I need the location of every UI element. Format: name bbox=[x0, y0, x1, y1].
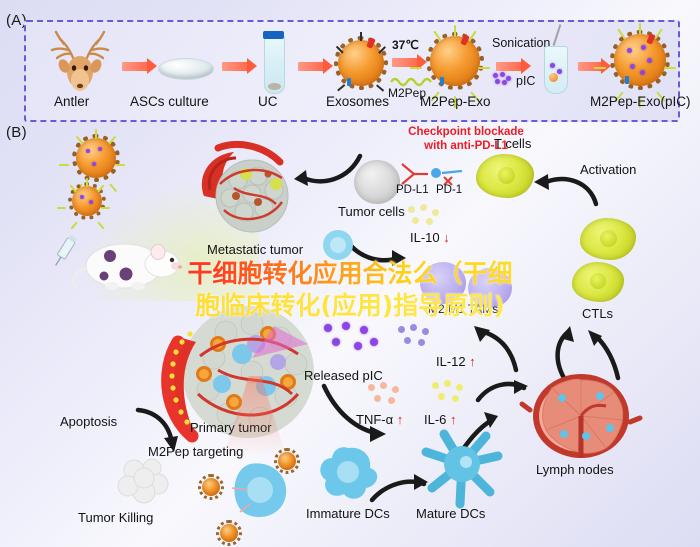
pic-label: pIC bbox=[516, 74, 535, 88]
pic-dots-icon bbox=[492, 72, 512, 86]
process-arrow-5 bbox=[496, 62, 522, 71]
il-6-cytokine-dots bbox=[430, 380, 474, 410]
tumor-cell-icon bbox=[354, 160, 400, 204]
panel-a-container: Antler ASCs culture UC Exosomes 37℃ bbox=[24, 20, 680, 122]
cytokine-tnf-alpha: TNF-α ↑ bbox=[356, 412, 403, 427]
label-released-pic: Released pIC bbox=[304, 368, 383, 383]
sonicator-tube-icon bbox=[544, 46, 568, 94]
label-ctls: CTLs bbox=[582, 306, 613, 321]
step-label-exosomes: Exosomes bbox=[326, 94, 389, 109]
label-pd-l1: PD-L1 bbox=[396, 184, 429, 196]
centrifuge-tube-icon bbox=[264, 36, 285, 94]
process-arrow-2 bbox=[222, 62, 248, 71]
temperature-annotation: 37℃ bbox=[392, 38, 419, 52]
mature-dc-icon bbox=[420, 430, 504, 506]
step-label-m2pep-exo-pic: M2Pep-Exo(pIC) bbox=[590, 94, 691, 109]
petri-dish-icon bbox=[158, 58, 214, 80]
targeting-exosome-icon-1 bbox=[202, 478, 220, 496]
cytokine-tnf-alpha-name: TNF-α bbox=[356, 412, 393, 427]
label-pd-1: PD-1 bbox=[436, 184, 462, 196]
injected-exosome-icon-1 bbox=[76, 138, 116, 178]
targeting-exosome-icon-2 bbox=[220, 524, 238, 542]
m2pep-exosome-pic-icon bbox=[614, 34, 666, 86]
ctl-cell-icon-2 bbox=[572, 262, 624, 302]
ctl-cell-icon-1 bbox=[580, 218, 636, 260]
arrow-activation bbox=[530, 174, 604, 210]
cytokine-il-10-arrow: ↓ bbox=[443, 230, 450, 245]
step-label-ascs-culture: ASCs culture bbox=[130, 94, 209, 109]
released-pic-dots bbox=[320, 322, 380, 368]
process-arrow-4 bbox=[392, 58, 418, 67]
cytokine-tnf-alpha-arrow: ↑ bbox=[397, 412, 404, 427]
m2pep-peptide-icon bbox=[390, 74, 430, 86]
t-cell-icon bbox=[476, 154, 534, 198]
label-tumor-cells: Tumor cells bbox=[338, 204, 405, 219]
cytokine-il-12-name: IL-12 bbox=[436, 354, 466, 369]
sonicator-probe-icon bbox=[553, 24, 561, 45]
macrophage-icon-1 bbox=[420, 262, 466, 304]
sonication-annotation: Sonication bbox=[492, 36, 550, 50]
step-label-antler: Antler bbox=[54, 94, 89, 109]
step-label-uc: UC bbox=[258, 94, 278, 109]
apoptotic-tumor-icon bbox=[112, 452, 174, 510]
cytokine-il-10-name: IL-10 bbox=[410, 230, 440, 245]
panel-b-container: Metastatic tumor Tumor cells Checkpoint … bbox=[24, 126, 676, 524]
arrow-cytokine-to-tams bbox=[472, 326, 522, 374]
label-immature-dcs: Immature DCs bbox=[306, 506, 390, 521]
metastatic-tumor-icon bbox=[190, 140, 304, 240]
deer-icon bbox=[44, 30, 118, 94]
cytokine-il-10: IL-10 ↓ bbox=[410, 230, 450, 245]
process-arrow-1 bbox=[122, 62, 148, 71]
exosome-icon bbox=[338, 40, 384, 86]
cytokine-il-12: IL-12 ↑ bbox=[436, 354, 476, 369]
targeting-exosome-icon-3 bbox=[278, 452, 296, 470]
label-t-cells: T cells bbox=[494, 136, 531, 151]
label-metastatic-tumor: Metastatic tumor bbox=[207, 242, 303, 257]
lymph-node-icon bbox=[522, 370, 640, 466]
label-lymph-nodes: Lymph nodes bbox=[536, 462, 614, 477]
dc-cell-icon-left bbox=[318, 226, 358, 264]
il-10-cytokine-dots bbox=[406, 204, 446, 230]
label-tumor-killing: Tumor Killing bbox=[78, 510, 153, 525]
step-label-m2pep-exo: M2Pep-Exo bbox=[420, 94, 491, 109]
tnf-alpha-cytokine-dots bbox=[366, 382, 410, 412]
process-arrow-3 bbox=[298, 62, 324, 71]
pd-l1-pd-1-interaction-icon bbox=[398, 160, 480, 186]
cytokine-il-6-name: IL-6 bbox=[424, 412, 446, 427]
il-12-cytokine-dots bbox=[396, 324, 440, 354]
label-tams: M2/M1 TAMs bbox=[428, 302, 498, 316]
m2pep-exosome-icon bbox=[430, 36, 480, 86]
mouse-icon bbox=[68, 230, 186, 302]
label-mature-dcs: Mature DCs bbox=[416, 506, 485, 521]
figure-canvas: (A) Antler ASCs bbox=[0, 0, 700, 547]
label-apoptosis: Apoptosis bbox=[60, 414, 117, 429]
